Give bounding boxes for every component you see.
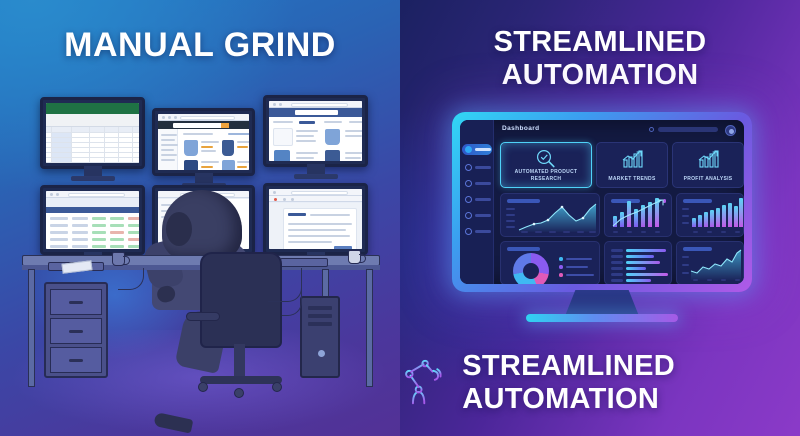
- area-series: [677, 242, 744, 284]
- bar-row: [626, 255, 654, 258]
- spreadsheet-grid: [46, 127, 139, 163]
- ecommerce-monitor: [263, 95, 368, 167]
- bar-row: [611, 267, 623, 270]
- site-navbar: [158, 121, 249, 129]
- cable-right-2: [282, 268, 302, 316]
- browser-toolbar: [46, 191, 139, 198]
- form-screen: [269, 189, 362, 249]
- market-trends-combo-chart[interactable]: [604, 193, 672, 237]
- kpi-card-label: PROFIT ANALYSIS: [676, 176, 740, 183]
- left-panel-title: MANUAL GRIND: [0, 26, 400, 65]
- product-catalog: [269, 117, 362, 161]
- category-share-donut[interactable]: [500, 241, 600, 284]
- sidebar-item-history[interactable]: [465, 228, 491, 235]
- kpi-card-label: MARKET TRENDS: [600, 176, 664, 183]
- panel-title: [683, 199, 712, 203]
- sidebar-item-settings[interactable]: [465, 212, 491, 219]
- sidebar-item-label: [475, 166, 491, 169]
- bar-row: [611, 261, 623, 264]
- site-navbar: [269, 108, 362, 117]
- power-led: [318, 350, 325, 357]
- right-panel-title: STREAMLINED AUTOMATION: [400, 26, 800, 92]
- kpi-card-profit-analysis[interactable]: PROFIT ANALYSIS: [672, 142, 744, 188]
- bottom-brand-title: STREAMLINED AUTOMATION: [462, 350, 800, 416]
- dashboard-header: Dashboard: [494, 120, 744, 140]
- top-products-bar-list[interactable]: [604, 241, 672, 284]
- avatar[interactable]: [725, 125, 736, 136]
- user-icon: [465, 180, 472, 187]
- kpi-card-market-trends[interactable]: MARKET TRENDS: [596, 142, 668, 188]
- spreadsheet-monitor: [40, 97, 145, 169]
- dashboard-sidebar: [460, 120, 494, 284]
- profit-bar-chart[interactable]: [676, 193, 744, 237]
- home-icon: [465, 146, 472, 153]
- spreadsheet-ribbon: [46, 114, 139, 127]
- browser-toolbar: [269, 189, 362, 196]
- legend-item: [559, 273, 594, 277]
- marketplace-monitor: [152, 108, 255, 176]
- bar-row: [611, 273, 623, 276]
- sidebar-item-label: [475, 198, 491, 201]
- sidebar-item-label: [475, 230, 491, 233]
- sidebar-item-home[interactable]: [465, 146, 491, 153]
- robot-arm-icon: [400, 350, 450, 416]
- bar-chart-up-icon: [619, 148, 645, 170]
- clock-icon: [465, 228, 472, 235]
- left-panel-manual-grind: MANUAL GRIND: [0, 0, 400, 436]
- bar-row: [626, 267, 646, 270]
- bar-row: [626, 249, 666, 252]
- donut-chart: [513, 253, 549, 284]
- bottom-brand-lockup: STREAMLINED AUTOMATION: [400, 334, 800, 432]
- revenue-area-chart[interactable]: [500, 193, 600, 237]
- search-input[interactable]: [658, 127, 718, 132]
- spreadsheet-titlebar: [46, 103, 139, 114]
- legend-item: [559, 257, 592, 261]
- search-icon[interactable]: [649, 127, 654, 132]
- web-form: [269, 203, 362, 249]
- sidebar-item-label: [475, 182, 491, 185]
- pc-tower: [300, 296, 340, 378]
- monitor-stand-neck: [565, 290, 639, 316]
- sidebar-item-users[interactable]: [465, 180, 491, 187]
- coffee-mug: [112, 252, 125, 266]
- check-icon: [465, 164, 472, 171]
- sidebar-item-products[interactable]: [465, 196, 491, 203]
- bar-row: [611, 255, 623, 258]
- coffee-cup-right: [348, 250, 361, 264]
- ecommerce-screen: [269, 101, 362, 161]
- comparison-infographic: MANUAL GRIND: [0, 0, 800, 436]
- bar-chart-up-icon: [695, 148, 721, 170]
- bar-row: [611, 249, 623, 252]
- data-table-monitor: [40, 185, 145, 255]
- search-check-icon: [533, 148, 559, 170]
- legend-item: [559, 265, 588, 269]
- product-listing: [158, 129, 249, 170]
- data-table-screen: [46, 191, 139, 249]
- tag-icon: [465, 196, 472, 203]
- dashboard-screen: Dashboard AUTOMATED PRODUCT RESEARCH: [460, 120, 744, 284]
- monitor-stand-base: [526, 314, 678, 322]
- bar-row: [626, 279, 651, 282]
- marketplace-screen: [158, 114, 249, 170]
- kpi-card-label: AUTOMATED PRODUCT RESEARCH: [504, 169, 588, 182]
- browser-toolbar: [269, 101, 362, 108]
- bar-row: [626, 261, 660, 264]
- right-panel-streamlined-automation: STREAMLINED AUTOMATION: [400, 0, 800, 436]
- person-hood: [162, 190, 242, 260]
- kpi-card-automated-product-research[interactable]: AUTOMATED PRODUCT RESEARCH: [500, 142, 592, 188]
- sidebar-item-label: [475, 214, 491, 217]
- filing-cabinet: [44, 282, 108, 378]
- form-monitor: [263, 183, 368, 255]
- bar-row: [626, 273, 668, 276]
- dashboard-display: Dashboard AUTOMATED PRODUCT RESEARCH: [452, 112, 752, 292]
- panel-title: [507, 247, 540, 251]
- browser-bookmarks: [269, 196, 362, 202]
- dashboard-page-title: Dashboard: [502, 125, 540, 132]
- spreadsheet-screen: [46, 103, 139, 163]
- browser-toolbar: [158, 114, 249, 121]
- data-table: [46, 207, 139, 249]
- growth-area-chart[interactable]: [676, 241, 744, 284]
- sidebar-item-tasks[interactable]: [465, 164, 491, 171]
- bar-row: [611, 279, 623, 282]
- sidebar-item-label: [475, 148, 491, 151]
- gear-icon: [465, 212, 472, 219]
